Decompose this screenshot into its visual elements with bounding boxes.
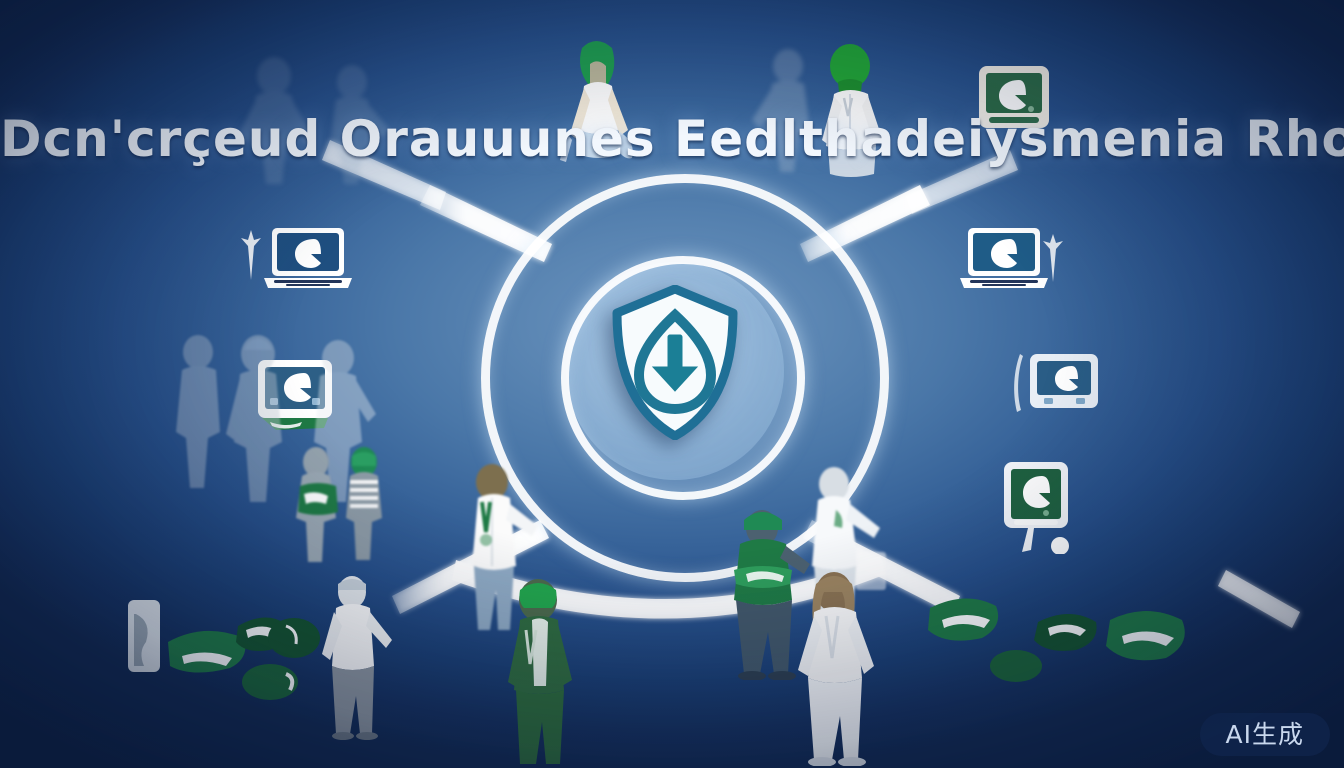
monitor-lower-right-icon [998, 460, 1084, 554]
figure-top-left-b [306, 64, 402, 186]
ai-generated-watermark: AI生成 [1200, 713, 1330, 756]
cursor-mark-left [240, 228, 262, 282]
figure-cluster-left-faint [160, 332, 240, 492]
figure-top-center [540, 34, 652, 174]
laptop-right-icon [958, 226, 1050, 294]
figure-top-right [798, 42, 906, 178]
tablet-mid-right-icon [1028, 350, 1102, 414]
abstract-shapes-bottom-right [920, 576, 1220, 692]
shield-download-icon [609, 285, 741, 440]
bracket-mark-right [1008, 352, 1024, 414]
illustration-canvas: Dcn'crçeud Orauuunes Eedlthadeiysmenia R… [0, 0, 1344, 768]
laptop-left-icon [262, 226, 354, 294]
monitor-top-right-icon [975, 62, 1053, 132]
abstract-shapes-bottom-left [126, 596, 426, 706]
figure-bottom-white [780, 566, 890, 766]
cursor-mark-right [1042, 232, 1064, 284]
figure-bottom-green [492, 574, 592, 768]
figure-mid-left-d [330, 444, 404, 562]
